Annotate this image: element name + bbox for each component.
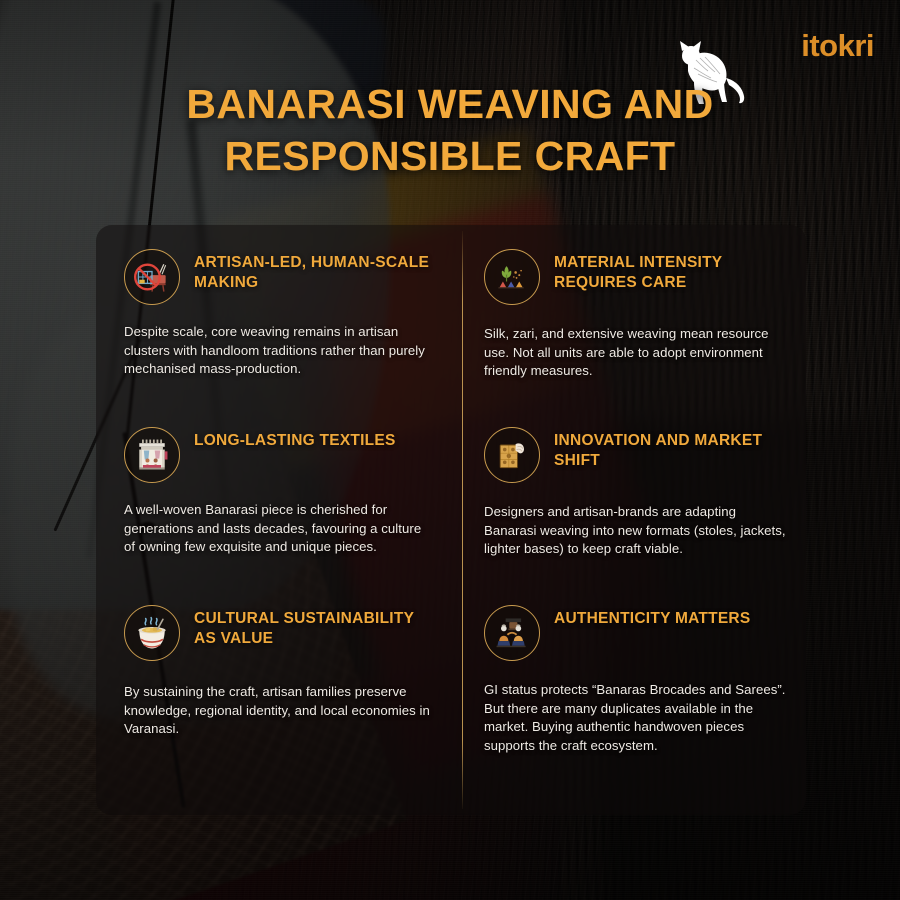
page-title: BANARASI WEAVING AND RESPONSIBLE CRAFT bbox=[0, 78, 900, 183]
card-title: INNOVATION AND MARKET SHIFT bbox=[554, 425, 786, 472]
card-artisan-led[interactable]: ARTISAN-LED, HUMAN-SCALE MAKING Despite … bbox=[96, 225, 462, 403]
card-authenticity-matters[interactable]: AUTHENTICITY MATTERS GI status protects … bbox=[462, 581, 806, 815]
brand-logo-text: itokri bbox=[801, 30, 874, 61]
card-body: By sustaining the craft, artisan familie… bbox=[124, 683, 434, 739]
card-body: GI status protects “Banaras Brocades and… bbox=[484, 681, 786, 756]
card-cultural-sustainability[interactable]: CULTURAL SUSTAINABILITY AS VALUE By sust… bbox=[96, 581, 462, 815]
two-weavers-icon bbox=[484, 605, 540, 661]
card-title: AUTHENTICITY MATTERS bbox=[554, 603, 750, 629]
fabric-swatch-hand-icon bbox=[484, 427, 540, 483]
content-panel: ARTISAN-LED, HUMAN-SCALE MAKING Despite … bbox=[96, 225, 806, 815]
card-header: LONG-LASTING TEXTILES bbox=[124, 425, 434, 483]
card-innovation-market-shift[interactable]: INNOVATION AND MARKET SHIFT Designers an… bbox=[462, 403, 806, 581]
card-grid: ARTISAN-LED, HUMAN-SCALE MAKING Despite … bbox=[96, 225, 806, 815]
card-title: CULTURAL SUSTAINABILITY AS VALUE bbox=[194, 603, 434, 650]
infographic-canvas: itokri BANARASI WEAVING AND RESPONSIBLE … bbox=[0, 0, 900, 900]
card-body: A well-woven Banarasi piece is cherished… bbox=[124, 501, 434, 557]
card-title: MATERIAL INTENSITY REQUIRES CARE bbox=[554, 247, 786, 294]
page-title-line-1: BANARASI WEAVING AND bbox=[186, 81, 713, 127]
card-header: INNOVATION AND MARKET SHIFT bbox=[484, 425, 786, 483]
brand-logo[interactable]: itokri bbox=[801, 30, 874, 61]
card-long-lasting-textiles[interactable]: LONG-LASTING TEXTILES A well-woven Banar… bbox=[96, 403, 462, 581]
card-header: MATERIAL INTENSITY REQUIRES CARE bbox=[484, 247, 786, 305]
natural-dyes-icon bbox=[484, 249, 540, 305]
card-material-intensity[interactable]: MATERIAL INTENSITY REQUIRES CARE Silk, z… bbox=[462, 225, 806, 403]
card-body: Despite scale, core weaving remains in a… bbox=[124, 323, 434, 379]
card-header: AUTHENTICITY MATTERS bbox=[484, 603, 786, 661]
card-header: CULTURAL SUSTAINABILITY AS VALUE bbox=[124, 603, 434, 661]
card-title: LONG-LASTING TEXTILES bbox=[194, 425, 396, 451]
no-machine-icon bbox=[124, 249, 180, 305]
craft-shop-icon bbox=[124, 427, 180, 483]
card-body: Designers and artisan-brands are adaptin… bbox=[484, 503, 786, 559]
card-title: ARTISAN-LED, HUMAN-SCALE MAKING bbox=[194, 247, 434, 294]
card-header: ARTISAN-LED, HUMAN-SCALE MAKING bbox=[124, 247, 434, 305]
cooking-pot-icon bbox=[124, 605, 180, 661]
page-title-line-2: RESPONSIBLE CRAFT bbox=[225, 133, 676, 179]
card-body: Silk, zari, and extensive weaving mean r… bbox=[484, 325, 786, 381]
